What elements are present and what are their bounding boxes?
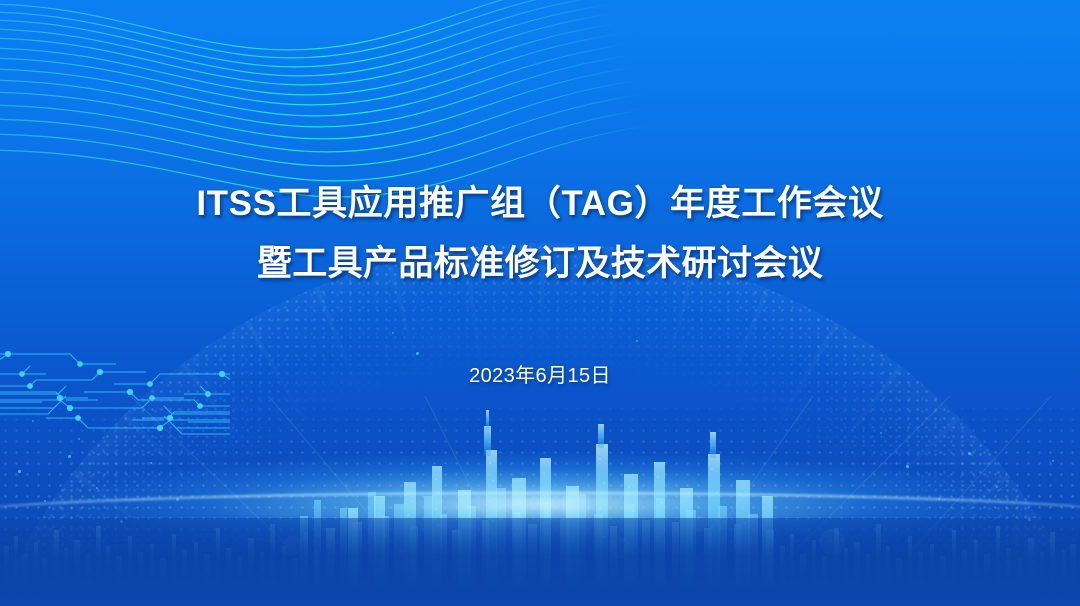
presentation-slide: ITSS工具应用推广组（TAG）年度工作会议 暨工具产品标准修订及技术研讨会议 … xyxy=(0,0,1080,606)
title-line-2: 暨工具产品标准修订及技术研讨会议 xyxy=(196,234,883,294)
title-line-1: ITSS工具应用推广组（TAG）年度工作会议 xyxy=(196,174,883,234)
slide-title: ITSS工具应用推广组（TAG）年度工作会议 暨工具产品标准修订及技术研讨会议 xyxy=(196,174,883,294)
slide-date: 2023年6月15日 xyxy=(469,359,611,388)
slide-content: ITSS工具应用推广组（TAG）年度工作会议 暨工具产品标准修订及技术研讨会议 … xyxy=(0,0,1080,606)
